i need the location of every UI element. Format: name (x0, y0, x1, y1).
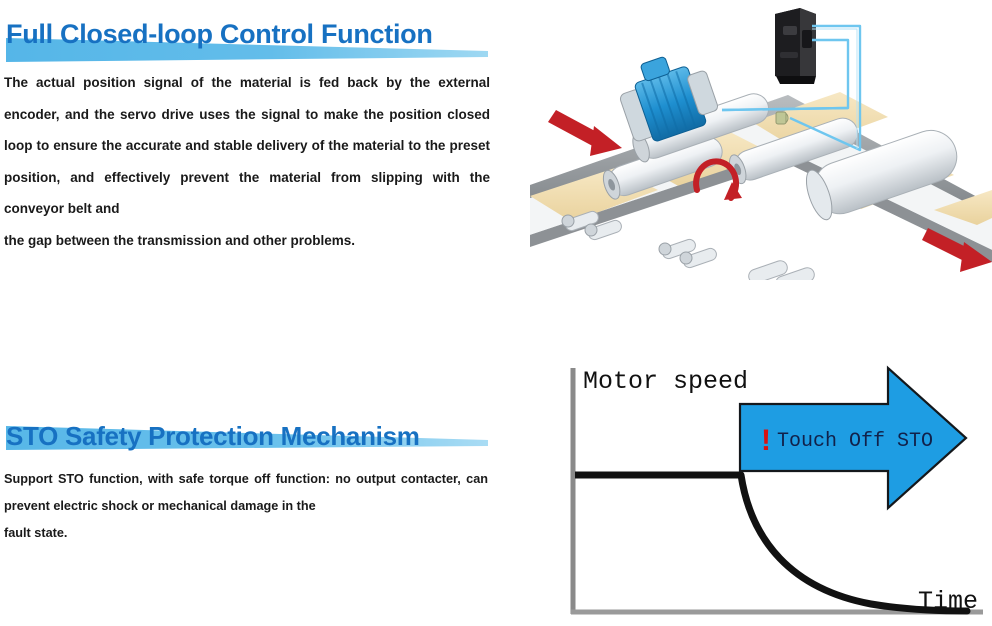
body-paragraph-lastline: fault state. (4, 520, 488, 547)
section-sto: STO Safety Protection Mechanism Support … (0, 418, 500, 547)
page-title-sto: STO Safety Protection Mechanism (0, 418, 500, 454)
body-paragraph-main: Support STO function, with safe torque o… (4, 472, 488, 513)
chart-ylabel: Motor speed (583, 367, 748, 396)
material-infeed-direction-icon (548, 110, 622, 156)
encoder-connector (776, 112, 788, 124)
chart-annotation-label: Touch Off STO (777, 430, 933, 453)
body-text-closed-loop: The actual position signal of the materi… (0, 67, 492, 256)
section-closed-loop: Full Closed-loop Control Function The ac… (0, 14, 500, 256)
heading-closed-loop-wrap: Full Closed-loop Control Function (0, 14, 500, 58)
body-paragraph-lastline: the gap between the transmission and oth… (4, 225, 490, 257)
external-encoder (775, 8, 816, 84)
conveyor-encoder-illustration (530, 0, 992, 280)
page-root: Full Closed-loop Control Function The ac… (0, 0, 992, 626)
body-paragraph-main: The actual position signal of the materi… (4, 75, 490, 216)
warning-exclamation-icon: ! (761, 424, 771, 457)
chart-xlabel: Time (918, 587, 978, 616)
sto-motor-speed-chart: ! Touch Off STO Motor speed Time (555, 358, 992, 626)
body-text-sto: Support STO function, with safe torque o… (0, 466, 490, 547)
page-title-closed-loop: Full Closed-loop Control Function (0, 14, 500, 54)
heading-sto-wrap: STO Safety Protection Mechanism (0, 418, 500, 458)
